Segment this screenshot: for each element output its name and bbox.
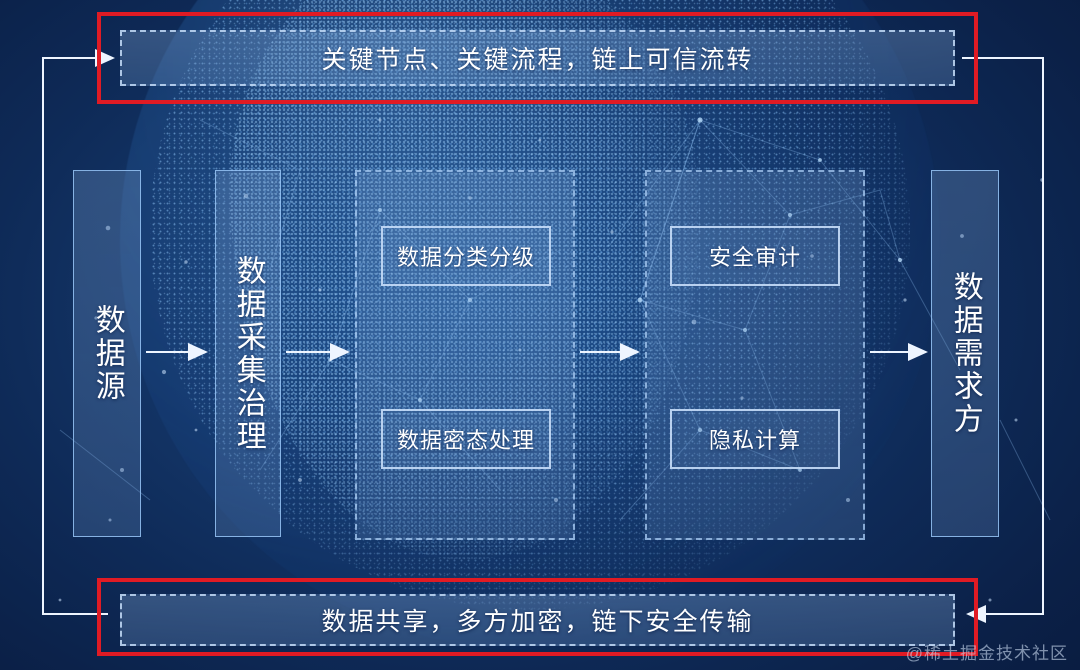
banner-top: 关键节点、关键流程，链上可信流转 [120,30,955,86]
stage-column-demand-label: 数据需求方 [947,271,982,436]
stage-column-collect-label: 数据采集治理 [230,255,265,453]
capability-box-security-audit: 安全审计 [670,226,840,286]
banner-bottom: 数据共享，多方加密，链下安全传输 [120,594,955,646]
capability-box-cipher-processing: 数据密态处理 [381,409,551,469]
capability-box-data-classification: 数据分类分级 [381,226,551,286]
diagram-canvas: 关键节点、关键流程，链上可信流转 数据共享，多方加密，链下安全传输 数据源 数据… [0,0,1080,670]
capability-box-privacy-computing: 隐私计算 [670,409,840,469]
watermark: @稀土掘金技术社区 [906,639,1068,664]
stage-column-source-label: 数据源 [89,304,124,403]
stage-column-demand: 数据需求方 [931,170,999,537]
stage-column-collect: 数据采集治理 [215,170,281,537]
stage-column-source: 数据源 [73,170,141,537]
